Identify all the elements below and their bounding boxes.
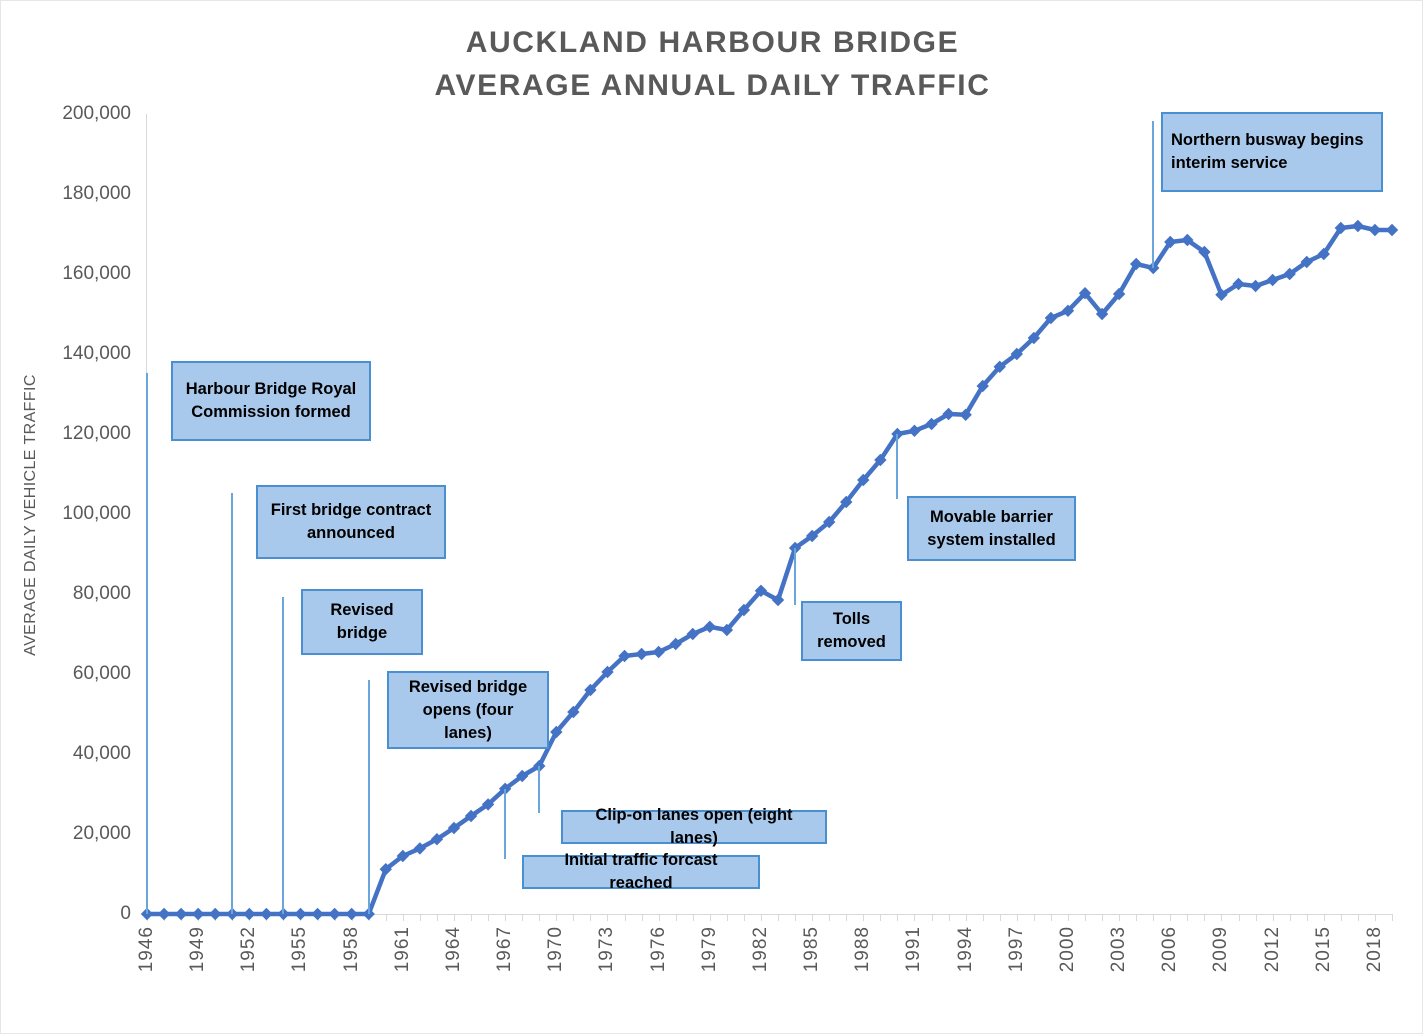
data-point-marker [482, 798, 494, 810]
data-point-marker [1130, 258, 1142, 270]
x-tick-mark [710, 914, 711, 921]
data-point-marker [414, 842, 426, 854]
x-tick-mark [522, 914, 523, 921]
data-point-marker [1011, 348, 1023, 360]
x-tick-mark [420, 914, 421, 921]
x-tick-mark [1239, 914, 1240, 921]
data-point-marker [823, 516, 835, 528]
callout-harbour-bridge-royal-commission[interactable]: Harbour Bridge Royal Commission formed [171, 361, 371, 441]
y-tick-label: 80,000 [0, 584, 131, 603]
x-tick-mark [1324, 914, 1325, 921]
x-tick-mark [573, 914, 574, 921]
x-tick-mark [198, 914, 199, 921]
data-point-marker [397, 850, 409, 862]
x-tick-label: 1985 [802, 926, 821, 972]
x-tick-label: 1952 [239, 926, 258, 972]
data-point-marker [1335, 222, 1347, 234]
x-tick-mark [352, 914, 353, 921]
data-point-marker [635, 648, 647, 660]
leader-line [538, 766, 540, 813]
data-point-marker [1369, 224, 1381, 236]
x-tick-label: 1997 [1007, 926, 1026, 972]
leader-line [896, 434, 898, 499]
x-tick-mark [676, 914, 677, 921]
x-tick-mark [1068, 914, 1069, 921]
x-tick-mark [1136, 914, 1137, 921]
x-tick-mark [164, 914, 165, 921]
callout-first-bridge-contract[interactable]: First bridge contract announced [256, 485, 446, 559]
x-tick-mark [300, 914, 301, 921]
data-point-marker [1045, 312, 1057, 324]
data-point-marker [942, 408, 954, 420]
y-tick-label: 180,000 [0, 184, 131, 203]
x-tick-label: 1973 [597, 926, 616, 972]
x-tick-mark [403, 914, 404, 921]
x-tick-mark [1102, 914, 1103, 921]
x-tick-mark [897, 914, 898, 921]
x-tick-mark [181, 914, 182, 921]
x-tick-mark [1034, 914, 1035, 921]
callout-initial-traffic-forecast[interactable]: Initial traffic forcast reached [522, 855, 760, 889]
x-tick-mark [1273, 914, 1274, 921]
x-tick-mark [1017, 914, 1018, 921]
x-tick-mark [914, 914, 915, 921]
x-tick-label: 1994 [956, 926, 975, 972]
x-tick-mark [642, 914, 643, 921]
x-tick-mark [1221, 914, 1222, 921]
x-tick-mark [505, 914, 506, 921]
data-point-marker [550, 726, 562, 738]
x-tick-label: 1949 [188, 926, 207, 972]
data-point-marker [601, 666, 613, 678]
data-point-marker [431, 833, 443, 845]
x-tick-label: 1955 [290, 926, 309, 972]
x-tick-mark [949, 914, 950, 921]
x-tick-mark [829, 914, 830, 921]
x-tick-label: 1979 [700, 926, 719, 972]
data-point-marker [994, 361, 1006, 373]
y-tick-label: 100,000 [0, 504, 131, 523]
x-tick-mark [283, 914, 284, 921]
callout-tolls-removed[interactable]: Tolls removed [801, 601, 902, 661]
data-point-marker [976, 380, 988, 392]
data-point-marker [1096, 308, 1108, 320]
x-tick-mark [863, 914, 864, 921]
x-tick-mark [318, 914, 319, 921]
data-point-marker [721, 624, 733, 636]
data-point-marker [448, 822, 460, 834]
data-point-marker [704, 621, 716, 633]
x-tick-label: 1970 [546, 926, 565, 972]
x-tick-mark [386, 914, 387, 921]
leader-line [282, 597, 284, 914]
data-point-marker [1266, 274, 1278, 286]
data-point-marker [687, 628, 699, 640]
data-point-marker [1164, 236, 1176, 248]
x-tick-mark [1000, 914, 1001, 921]
x-tick-label: 2006 [1160, 926, 1179, 972]
y-tick-label: 0 [0, 904, 131, 923]
x-tick-mark [1375, 914, 1376, 921]
callout-northern-busway[interactable]: Northern busway begins interim service [1161, 112, 1383, 192]
x-tick-mark [1307, 914, 1308, 921]
x-tick-label: 2015 [1314, 926, 1333, 972]
data-point-marker [1215, 289, 1227, 301]
chart-container: AUCKLAND HARBOUR BRIDGE AVERAGE ANNUAL D… [0, 0, 1423, 1034]
data-point-marker [1318, 248, 1330, 260]
x-tick-mark [232, 914, 233, 921]
x-tick-label: 2018 [1365, 926, 1384, 972]
data-point-marker [1028, 332, 1040, 344]
x-tick-mark [778, 914, 779, 921]
data-point-marker [669, 638, 681, 650]
x-tick-mark [1290, 914, 1291, 921]
x-tick-mark [1119, 914, 1120, 921]
x-tick-label: 2003 [1109, 926, 1128, 972]
data-point-marker [1249, 280, 1261, 292]
x-tick-mark [1392, 914, 1393, 921]
x-tick-mark [369, 914, 370, 921]
x-tick-label: 1991 [904, 926, 923, 972]
data-point-marker [772, 594, 784, 606]
leader-line [231, 493, 233, 914]
data-point-marker [516, 770, 528, 782]
data-point-marker [840, 496, 852, 508]
x-tick-mark [727, 914, 728, 921]
x-tick-label: 2009 [1211, 926, 1230, 972]
data-point-marker [465, 810, 477, 822]
x-tick-label: 1976 [649, 926, 668, 972]
x-tick-mark [215, 914, 216, 921]
y-tick-label: 140,000 [0, 344, 131, 363]
x-tick-mark [249, 914, 250, 921]
x-tick-mark [932, 914, 933, 921]
x-tick-label: 1967 [495, 926, 514, 972]
callout-clip-on-lanes-open[interactable]: Clip-on lanes open (eight lanes) [561, 810, 827, 844]
callout-movable-barrier[interactable]: Movable barrier system installed [907, 496, 1076, 561]
leader-line [146, 373, 148, 914]
y-tick-label: 200,000 [0, 104, 131, 123]
x-tick-label: 2012 [1263, 926, 1282, 972]
x-tick-label: 2000 [1058, 926, 1077, 972]
data-point-marker [1232, 278, 1244, 290]
y-tick-label: 60,000 [0, 664, 131, 683]
x-tick-mark [1187, 914, 1188, 921]
leader-line [504, 789, 506, 859]
x-tick-mark [488, 914, 489, 921]
callout-revised-bridge[interactable]: Revised bridge [301, 589, 423, 655]
x-tick-label: 1964 [444, 926, 463, 972]
x-tick-label: 1961 [393, 926, 412, 972]
data-point-marker [908, 425, 920, 437]
data-point-marker [380, 863, 392, 875]
y-tick-label: 120,000 [0, 424, 131, 443]
y-tick-label: 20,000 [0, 824, 131, 843]
data-point-marker [874, 454, 886, 466]
x-tick-mark [1170, 914, 1171, 921]
data-point-marker [925, 418, 937, 430]
data-point-marker [1386, 224, 1398, 236]
x-tick-mark [437, 914, 438, 921]
x-tick-mark [1085, 914, 1086, 921]
data-point-marker [1113, 288, 1125, 300]
data-point-marker [738, 604, 750, 616]
x-tick-mark [812, 914, 813, 921]
x-tick-mark [590, 914, 591, 921]
x-tick-mark [625, 914, 626, 921]
x-tick-mark [880, 914, 881, 921]
data-point-marker [1062, 305, 1074, 317]
leader-line [368, 680, 370, 914]
data-point-marker [755, 585, 767, 597]
x-tick-mark [1204, 914, 1205, 921]
x-tick-label: 1982 [751, 926, 770, 972]
data-point-marker [584, 684, 596, 696]
x-tick-mark [983, 914, 984, 921]
x-tick-mark [1153, 914, 1154, 921]
data-point-marker [1198, 246, 1210, 258]
data-point-marker [857, 474, 869, 486]
x-tick-mark [556, 914, 557, 921]
x-tick-mark [335, 914, 336, 921]
x-tick-mark [693, 914, 694, 921]
x-tick-mark [1341, 914, 1342, 921]
data-point-marker [1301, 256, 1313, 268]
data-point-marker [959, 409, 971, 421]
x-tick-label: 1958 [342, 926, 361, 972]
x-tick-mark [266, 914, 267, 921]
data-point-marker [567, 706, 579, 718]
x-tick-mark [966, 914, 967, 921]
x-tick-label: 1946 [137, 926, 156, 972]
x-tick-mark [539, 914, 540, 921]
x-tick-mark [147, 914, 148, 921]
data-point-marker [1079, 287, 1091, 299]
data-point-marker [806, 530, 818, 542]
data-point-marker [1181, 234, 1193, 246]
data-point-marker [1352, 220, 1364, 232]
data-point-marker [1283, 268, 1295, 280]
x-tick-mark [744, 914, 745, 921]
x-tick-mark [659, 914, 660, 921]
callout-revised-bridge-opens[interactable]: Revised bridge opens (four lanes) [387, 671, 549, 749]
x-tick-label: 1988 [853, 926, 872, 972]
y-tick-label: 40,000 [0, 744, 131, 763]
x-tick-mark [795, 914, 796, 921]
x-tick-mark [471, 914, 472, 921]
y-tick-label: 160,000 [0, 264, 131, 283]
leader-line [794, 548, 796, 605]
x-tick-mark [761, 914, 762, 921]
chart-title: AUCKLAND HARBOUR BRIDGE AVERAGE ANNUAL D… [1, 21, 1423, 107]
leader-line [1152, 121, 1154, 268]
x-tick-mark [1256, 914, 1257, 921]
x-tick-mark [846, 914, 847, 921]
x-tick-mark [1358, 914, 1359, 921]
data-point-marker [652, 646, 664, 658]
x-tick-mark [607, 914, 608, 921]
x-tick-mark [454, 914, 455, 921]
data-point-marker [618, 650, 630, 662]
x-tick-mark [1051, 914, 1052, 921]
